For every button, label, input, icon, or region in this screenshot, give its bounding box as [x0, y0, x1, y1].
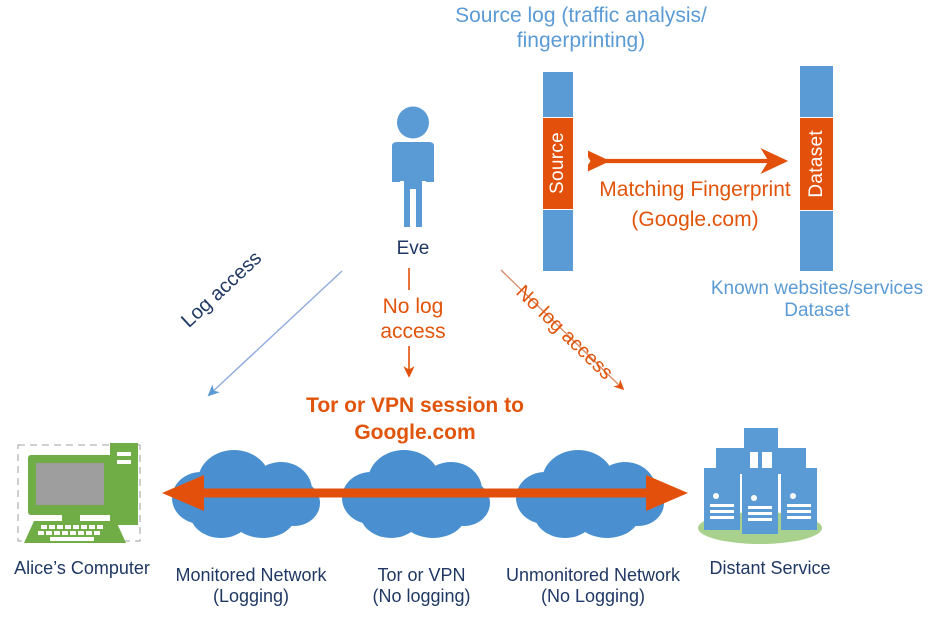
desktop-computer-icon	[16, 443, 150, 547]
dataset-caption: Known websites/services Dataset	[683, 278, 951, 323]
node-caption-alice: Alice’s Computer	[0, 558, 164, 579]
node-caption-distant-service: Distant Service	[690, 558, 850, 579]
dataset-bar: Dataset	[800, 66, 833, 271]
matching-fingerprint-arrow-icon	[588, 140, 802, 182]
session-title-line1: Tor or VPN session to	[280, 394, 550, 419]
dataset-bar-top	[800, 66, 833, 117]
source-bar-top	[543, 72, 573, 117]
node-caption-tor-vpn: Tor or VPN (No logging)	[349, 565, 494, 607]
source-log-title: Source log (traffic analysis/ fingerprin…	[395, 4, 767, 54]
server-stack-icon	[692, 418, 828, 546]
matching-fingerprint-line1: Matching Fingerprint	[565, 178, 825, 203]
node-caption-unmonitored-network: Unmonitored Network (No Logging)	[497, 565, 689, 607]
session-double-arrow-icon	[160, 470, 690, 516]
node-caption-monitored-network: Monitored Network (Logging)	[163, 565, 339, 607]
no-log-access-arrow-down-icon	[398, 268, 420, 390]
eve-label: Eve	[368, 238, 458, 260]
session-title-line2: Google.com	[280, 421, 550, 446]
matching-fingerprint-line2: (Google.com)	[565, 208, 825, 233]
source-bar: Source	[543, 72, 573, 271]
person-icon	[378, 105, 448, 235]
